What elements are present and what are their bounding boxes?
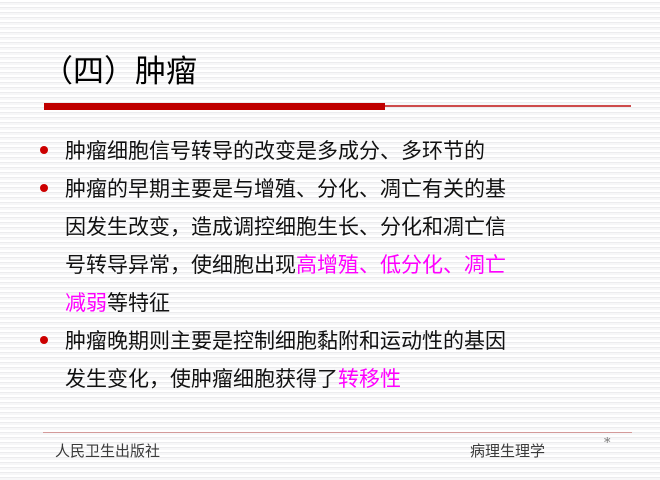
slide-canvas: （四）肿瘤 肿瘤细胞信号转导的改变是多成分、多环节的肿瘤的早期主要是与增殖、分化… xyxy=(0,0,660,480)
bullet-text-line: 号转导异常，使细胞出现高增殖、低分化、凋亡 xyxy=(65,246,660,284)
bullet-item: 肿瘤的早期主要是与增殖、分化、凋亡有关的基因发生改变，造成调控细胞生长、分化和凋… xyxy=(0,170,660,322)
plain-text: 肿瘤的早期主要是与增殖、分化、凋亡有关的基 xyxy=(65,177,506,201)
plain-text: 肿瘤细胞信号转导的改变是多成分、多环节的 xyxy=(65,139,485,163)
bullet-item: 肿瘤细胞信号转导的改变是多成分、多环节的 xyxy=(0,132,660,170)
bullet-dot-icon xyxy=(40,146,48,154)
plain-text: 发生变化，使肿瘤细胞获得了 xyxy=(65,367,338,391)
page-title: （四）肿瘤 xyxy=(42,52,197,92)
plain-text: 肿瘤晚期则主要是控制细胞黏附和运动性的基因 xyxy=(65,329,506,353)
footer-page-marker: * xyxy=(604,436,611,451)
slide-footer: 人民卫生出版社 病理生理学 * xyxy=(0,440,660,470)
bullet-text-line: 发生变化，使肿瘤细胞获得了转移性 xyxy=(65,360,660,398)
bullet-item: 肿瘤晚期则主要是控制细胞黏附和运动性的基因发生变化，使肿瘤细胞获得了转移性 xyxy=(0,322,660,398)
plain-text: 等特征 xyxy=(107,291,170,315)
bullet-text-line: 减弱等特征 xyxy=(65,284,660,322)
bullet-list: 肿瘤细胞信号转导的改变是多成分、多环节的肿瘤的早期主要是与增殖、分化、凋亡有关的… xyxy=(0,132,660,398)
slide-title-block: （四）肿瘤 xyxy=(0,52,660,110)
footer-publisher: 人民卫生出版社 xyxy=(55,440,160,461)
bullet-text: 肿瘤细胞信号转导的改变是多成分、多环节的 xyxy=(65,132,660,170)
bullet-text-line: 肿瘤细胞信号转导的改变是多成分、多环节的 xyxy=(65,132,660,170)
title-underline-thick xyxy=(44,103,385,110)
bullet-text: 肿瘤的早期主要是与增殖、分化、凋亡有关的基因发生改变，造成调控细胞生长、分化和凋… xyxy=(65,170,660,322)
bullet-text-line: 肿瘤的早期主要是与增殖、分化、凋亡有关的基 xyxy=(65,170,660,208)
highlighted-text: 减弱 xyxy=(65,291,107,315)
footer-divider xyxy=(43,432,632,433)
highlighted-text: 转移性 xyxy=(338,367,401,391)
bullet-dot-icon xyxy=(40,336,48,344)
bullet-text-line: 肿瘤晚期则主要是控制细胞黏附和运动性的基因 xyxy=(65,322,660,360)
plain-text: 号转导异常，使细胞出现 xyxy=(65,253,296,277)
bullet-text-line: 因发生改变，造成调控细胞生长、分化和凋亡信 xyxy=(65,208,660,246)
footer-subject: 病理生理学 xyxy=(470,440,545,461)
bullet-dot-icon xyxy=(40,184,48,192)
title-underline-thin xyxy=(385,105,631,107)
bullet-text: 肿瘤晚期则主要是控制细胞黏附和运动性的基因发生变化，使肿瘤细胞获得了转移性 xyxy=(65,322,660,398)
highlighted-text: 高增殖、低分化、凋亡 xyxy=(296,253,506,277)
plain-text: 因发生改变，造成调控细胞生长、分化和凋亡信 xyxy=(65,215,506,239)
